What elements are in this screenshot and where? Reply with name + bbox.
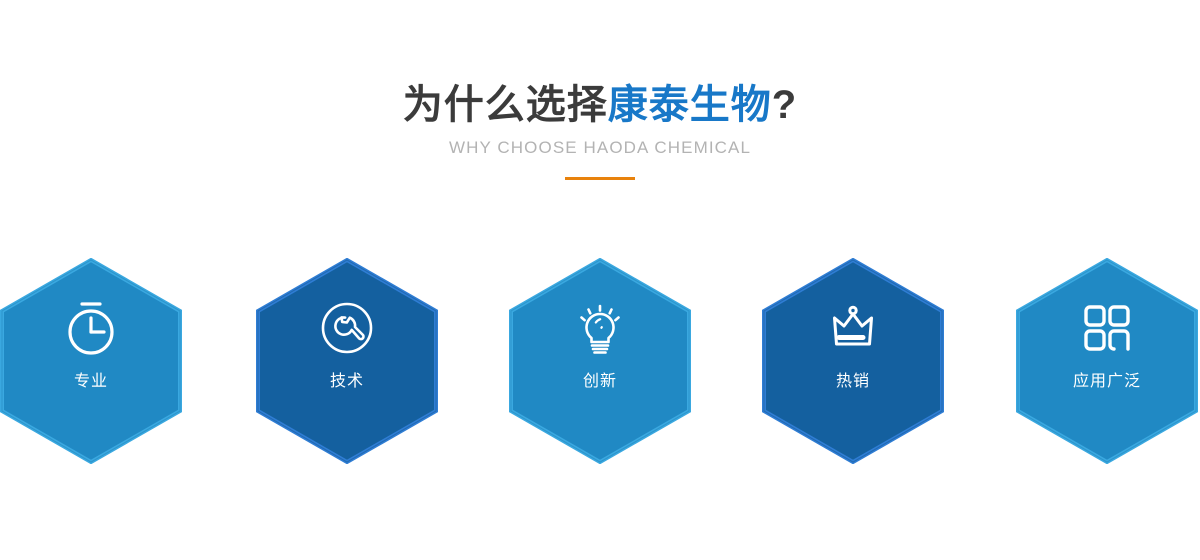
feature-hexagon-technology[interactable]: 技术 [256, 258, 438, 464]
feature-hexagon-wide-application[interactable]: 应用广泛 [1016, 258, 1198, 464]
feature-hexagon-professional[interactable]: 专业 [0, 258, 182, 464]
title-plain-text: 为什么选择 [403, 83, 608, 127]
hexagon-shape [256, 258, 438, 464]
title-suffix-text: ? [772, 83, 797, 127]
section-heading: 为什么选择康泰生物? WHY CHOOSE HAODA CHEMICAL [0, 82, 1200, 180]
hexagon-shape [509, 258, 691, 464]
page-title: 为什么选择康泰生物? [0, 82, 1200, 128]
page-subtitle: WHY CHOOSE HAODA CHEMICAL [0, 138, 1200, 158]
feature-hexagon-row: 专业 技术 [0, 258, 1200, 464]
hexagon-shape [0, 258, 182, 464]
feature-hexagon-innovation[interactable]: 创新 [509, 258, 691, 464]
why-choose-us-section: 为什么选择康泰生物? WHY CHOOSE HAODA CHEMICAL [0, 0, 1200, 560]
title-divider [565, 177, 635, 180]
hexagon-shape [1016, 258, 1198, 464]
title-accent-text: 康泰生物 [608, 83, 772, 127]
hexagon-shape [762, 258, 944, 464]
feature-hexagon-bestseller[interactable]: 热销 [762, 258, 944, 464]
